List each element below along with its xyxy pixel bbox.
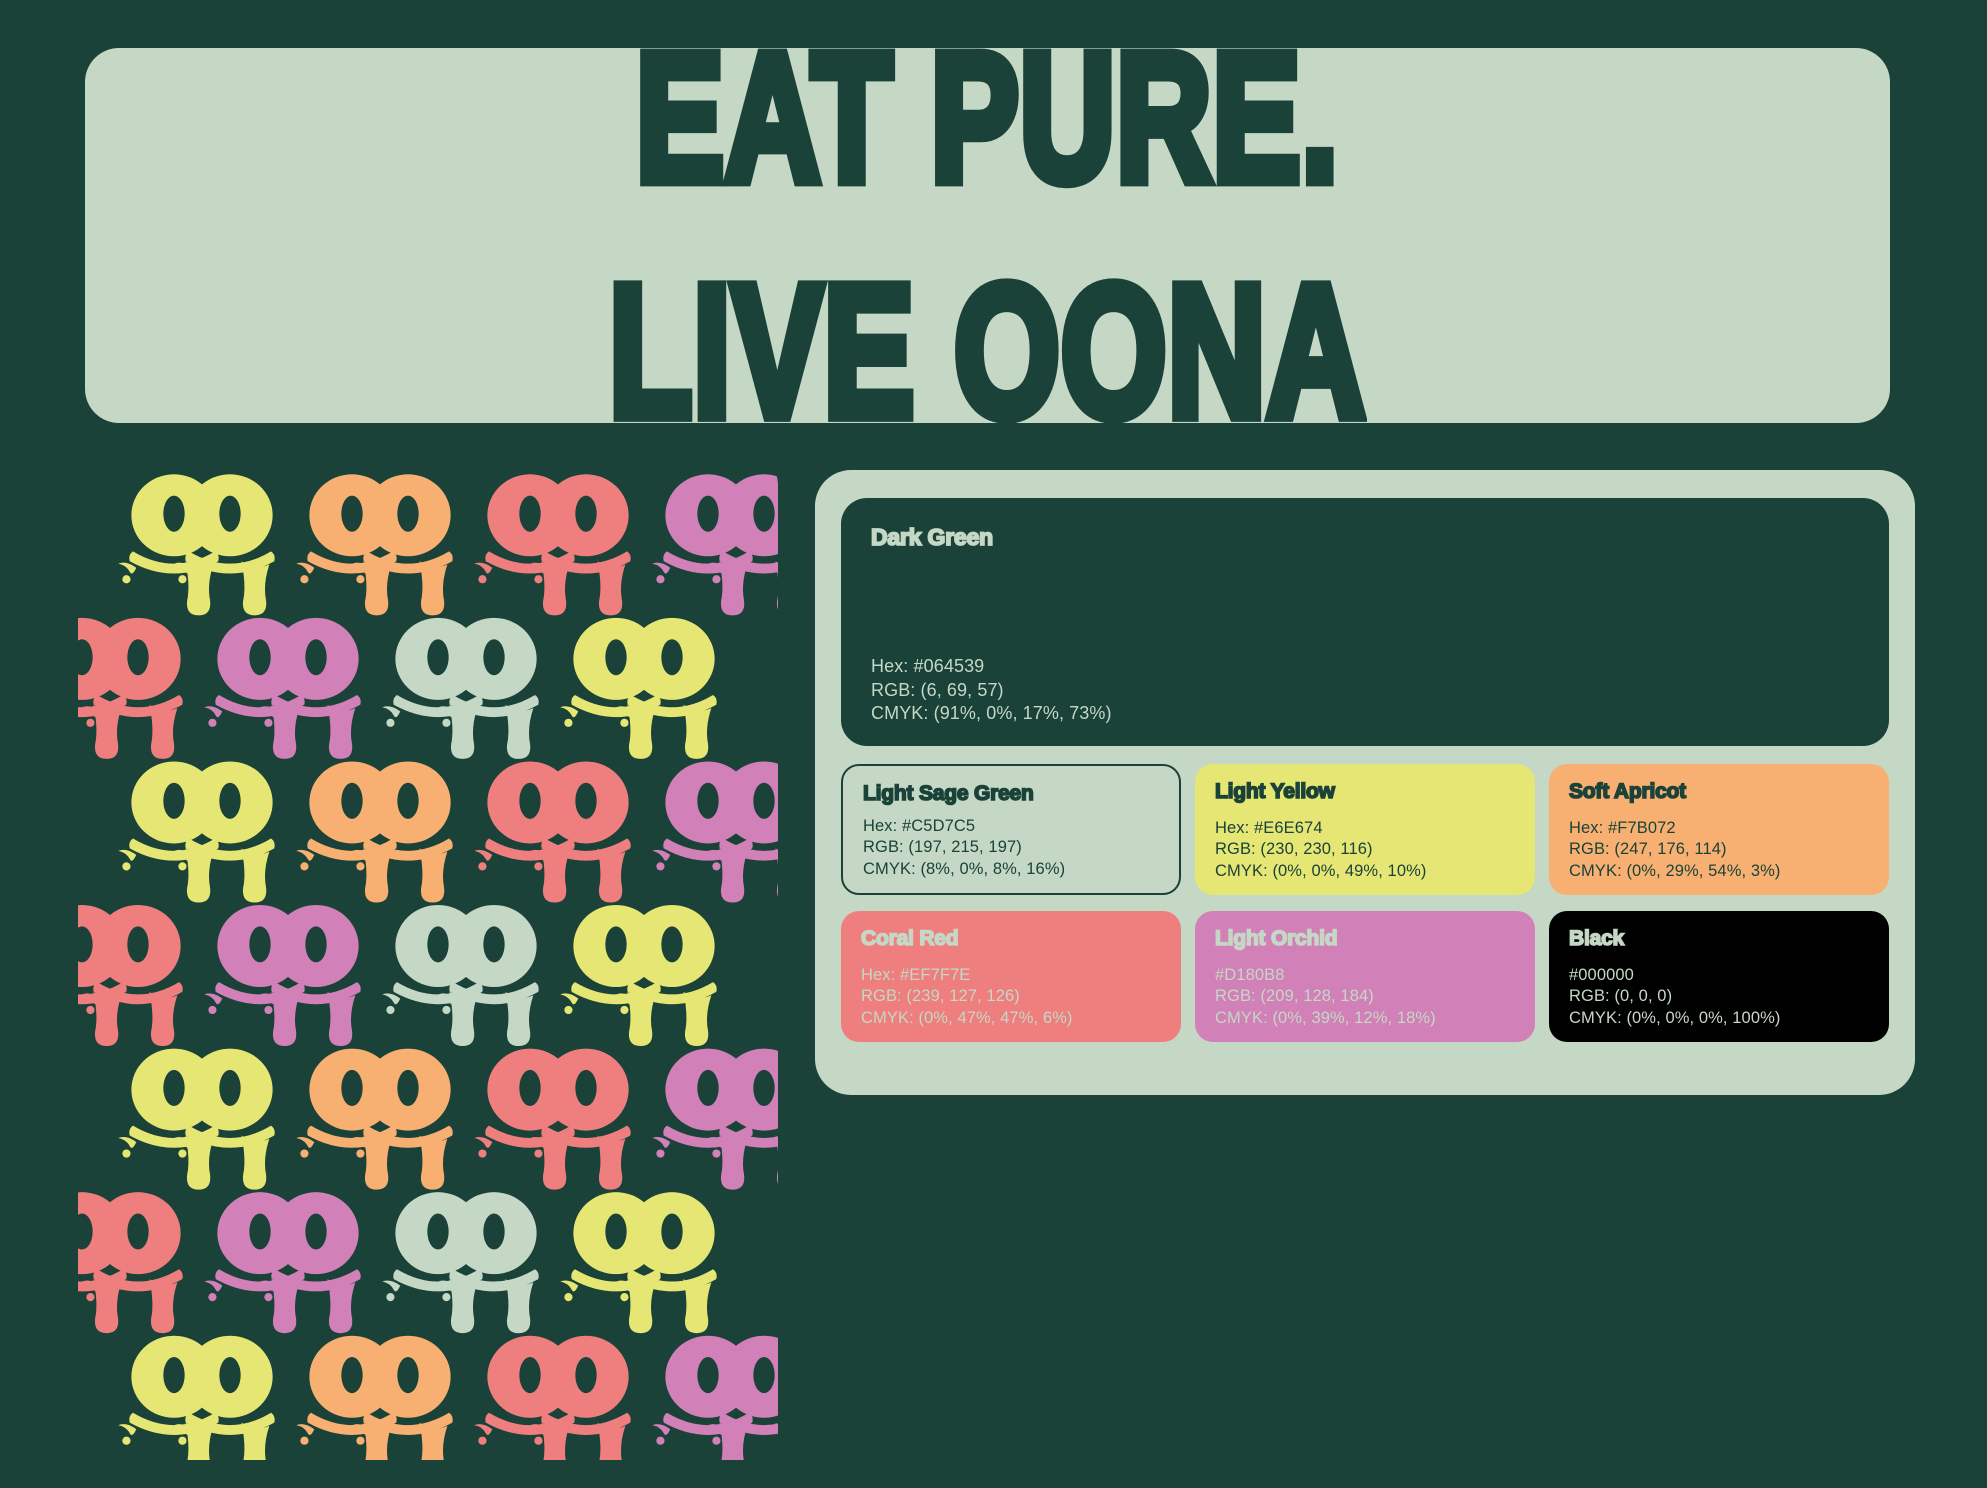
swatch-meta: Hex: #064539 RGB: (6, 69, 57) CMYK: (91%… — [871, 655, 1112, 726]
headline-line-1: EAT PURE. — [636, 48, 1339, 202]
headline-line-2: LIVE OONA — [609, 265, 1366, 423]
swatch-coral-red[interactable]: Coral Red Hex: #EF7F7E RGB: (239, 127, 1… — [841, 911, 1181, 1042]
swatch-light-sage-green[interactable]: Light Sage Green Hex: #C5D7C5 RGB: (197,… — [841, 764, 1181, 895]
swatch-name: Coral Red — [861, 927, 1161, 951]
swatch-meta: #000000 RGB: (0, 0, 0) CMYK: (0%, 0%, 0%… — [1569, 965, 1780, 1029]
swatch-name: Soft Apricot — [1569, 780, 1869, 804]
swatch-name: Dark Green — [871, 524, 1859, 551]
swatch-light-yellow[interactable]: Light Yellow Hex: #E6E674 RGB: (230, 230… — [1195, 764, 1535, 895]
swatch-name: Light Yellow — [1215, 780, 1515, 804]
swatch-meta: Hex: #EF7F7E RGB: (239, 127, 126) CMYK: … — [861, 965, 1072, 1029]
swatch-dark-green[interactable]: Dark Green Hex: #064539 RGB: (6, 69, 57)… — [841, 498, 1889, 746]
swatch-meta: Hex: #E6E674 RGB: (230, 230, 116) CMYK: … — [1215, 818, 1426, 882]
color-palette-panel: Dark Green Hex: #064539 RGB: (6, 69, 57)… — [815, 470, 1915, 1095]
swatch-light-orchid[interactable]: Light Orchid #D180B8 RGB: (209, 128, 184… — [1195, 911, 1535, 1042]
swatch-meta: Hex: #F7B072 RGB: (247, 176, 114) CMYK: … — [1569, 818, 1780, 882]
swatch-meta: Hex: #C5D7C5 RGB: (197, 215, 197) CMYK: … — [863, 816, 1065, 880]
swatch-name: Black — [1569, 927, 1869, 951]
donut-pattern-panel — [78, 455, 778, 1460]
swatch-name: Light Orchid — [1215, 927, 1515, 951]
swatch-name: Light Sage Green — [863, 782, 1159, 806]
swatch-soft-apricot[interactable]: Soft Apricot Hex: #F7B072 RGB: (247, 176… — [1549, 764, 1889, 895]
headline-card: EAT PURE. LIVE OONA — [85, 48, 1890, 423]
swatch-black[interactable]: Black #000000 RGB: (0, 0, 0) CMYK: (0%, … — [1549, 911, 1889, 1042]
donut-pattern-svg — [78, 455, 778, 1460]
swatch-grid: Light Sage Green Hex: #C5D7C5 RGB: (197,… — [841, 764, 1889, 1042]
swatch-meta: #D180B8 RGB: (209, 128, 184) CMYK: (0%, … — [1215, 965, 1436, 1029]
